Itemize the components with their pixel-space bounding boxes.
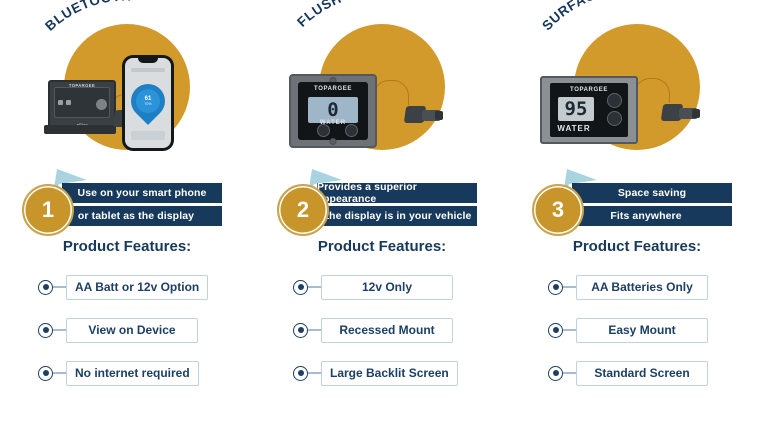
bluetooth-module: TOPARGEE eFlow (48, 80, 116, 130)
feature-label: Standard Screen (576, 361, 708, 386)
module-indicator-b (66, 100, 71, 105)
feature-label: AA Batt or 12v Option (66, 275, 208, 300)
product-photo-flush-mount: TOPARGEE 0 WATER (255, 22, 509, 157)
gauge-button-top[interactable] (607, 93, 622, 108)
banner-block-2: Provides a superior appearance as the di… (255, 170, 509, 228)
flow-sensor (405, 104, 441, 126)
bullet-icon (293, 366, 308, 381)
phone-screen: 61 70% (125, 58, 171, 148)
feature-row: Recessed Mount (255, 315, 509, 345)
product-features-heading: Product Features: (255, 238, 509, 255)
gauge-button-left[interactable] (317, 124, 330, 137)
feature-label: AA Batteries Only (576, 275, 708, 300)
banner-block-1: Use on your smart phone or tablet as the… (0, 170, 254, 228)
water-level-unit: 70% (144, 102, 151, 107)
feature-label: Recessed Mount (321, 318, 453, 343)
gauge-water-label: WATER (298, 120, 368, 126)
banner-line-2: or tablet as the display (50, 206, 222, 226)
bullet-icon (548, 280, 563, 295)
step-number-badge: 2 (277, 184, 329, 236)
water-drop-gauge: 61 70% (125, 77, 171, 125)
gauge-brand-label: TOPARGEE (298, 86, 368, 92)
connector-line (308, 286, 321, 288)
column-surface-mount: SURFACE MOUNT TOPARGEE 95 WATER (510, 0, 764, 423)
feature-row: 12v Only (255, 272, 509, 302)
feature-label: Easy Mount (576, 318, 708, 343)
module-knob (96, 99, 107, 110)
bullet-icon (548, 366, 563, 381)
phone-topbar (131, 68, 165, 72)
gauge-faceplate: TOPARGEE 0 WATER (298, 82, 368, 140)
bullet-icon (38, 323, 53, 338)
flush-mount-gauge: TOPARGEE 0 WATER (289, 74, 377, 148)
connector-line (53, 329, 66, 331)
surface-mount-gauge: TOPARGEE 95 WATER (540, 76, 638, 144)
gauge-brand-label: TOPARGEE (550, 87, 628, 93)
connector-line (53, 286, 66, 288)
bullet-icon (293, 323, 308, 338)
phone-notch (138, 58, 158, 63)
gauge-button-bottom[interactable] (607, 111, 622, 126)
feature-label: Large Backlit Screen (321, 361, 458, 386)
feature-row: AA Batteries Only (510, 272, 764, 302)
feature-label: View on Device (66, 318, 198, 343)
connector-line (308, 372, 321, 374)
bullet-icon (38, 280, 53, 295)
feature-row: Easy Mount (510, 315, 764, 345)
gauge-water-label: WATER (550, 124, 598, 133)
module-indicator-a (58, 100, 63, 105)
feature-label: 12v Only (321, 275, 453, 300)
product-features-heading: Product Features: (510, 238, 764, 255)
banner-line-2: as the display is in your vehicle (305, 206, 477, 226)
bullet-icon (38, 366, 53, 381)
connector-line (563, 372, 576, 374)
module-base (44, 125, 116, 134)
bullet-icon (548, 323, 563, 338)
screw-icon (330, 138, 337, 145)
sensor-tip (692, 109, 700, 118)
product-photo-bluetooth: TOPARGEE eFlow 61 (0, 22, 254, 157)
banner-line-1: Space saving (572, 183, 732, 203)
product-features-heading: Product Features: (0, 238, 254, 255)
flow-sensor (662, 102, 698, 124)
infographic-board: BLUETOOTH TOPARGEE eFlow (0, 0, 764, 423)
sensor-tip (435, 111, 443, 120)
gauge-faceplate: TOPARGEE 95 WATER (550, 83, 628, 137)
gauge-button-right[interactable] (345, 124, 358, 137)
product-photo-surface-mount: TOPARGEE 95 WATER (510, 22, 764, 157)
gauge-reading: 0 (327, 101, 338, 120)
step-number-badge: 1 (22, 184, 74, 236)
feature-row: No internet required (0, 358, 254, 388)
water-drop-inner: 61 70% (136, 89, 160, 113)
connector-line (53, 372, 66, 374)
sensor-cable (373, 80, 409, 105)
column-flush-mount: FLUSH MOUNT TOPARGEE 0 WATER (255, 0, 509, 423)
sensor-cable (634, 78, 670, 103)
banner-line-2: Fits anywhere (560, 206, 732, 226)
feature-row: AA Batt or 12v Option (0, 272, 254, 302)
connector-line (563, 286, 576, 288)
feature-row: Large Backlit Screen (255, 358, 509, 388)
phone-bottom-card (131, 131, 165, 140)
smartphone: 61 70% (122, 55, 174, 151)
bullet-icon (293, 280, 308, 295)
banner-line-1: Provides a superior appearance (317, 183, 477, 203)
banner-block-3: Space saving Fits anywhere 3 (510, 170, 764, 228)
step-number-badge: 3 (532, 184, 584, 236)
gauge-reading: 95 (565, 100, 588, 119)
connector-line (308, 329, 321, 331)
feature-row: View on Device (0, 315, 254, 345)
gauge-lcd: 95 (558, 97, 594, 121)
feature-row: Standard Screen (510, 358, 764, 388)
feature-label: No internet required (66, 361, 199, 386)
column-bluetooth: BLUETOOTH TOPARGEE eFlow (0, 0, 254, 423)
connector-line (563, 329, 576, 331)
banner-line-1: Use on your smart phone (62, 183, 222, 203)
